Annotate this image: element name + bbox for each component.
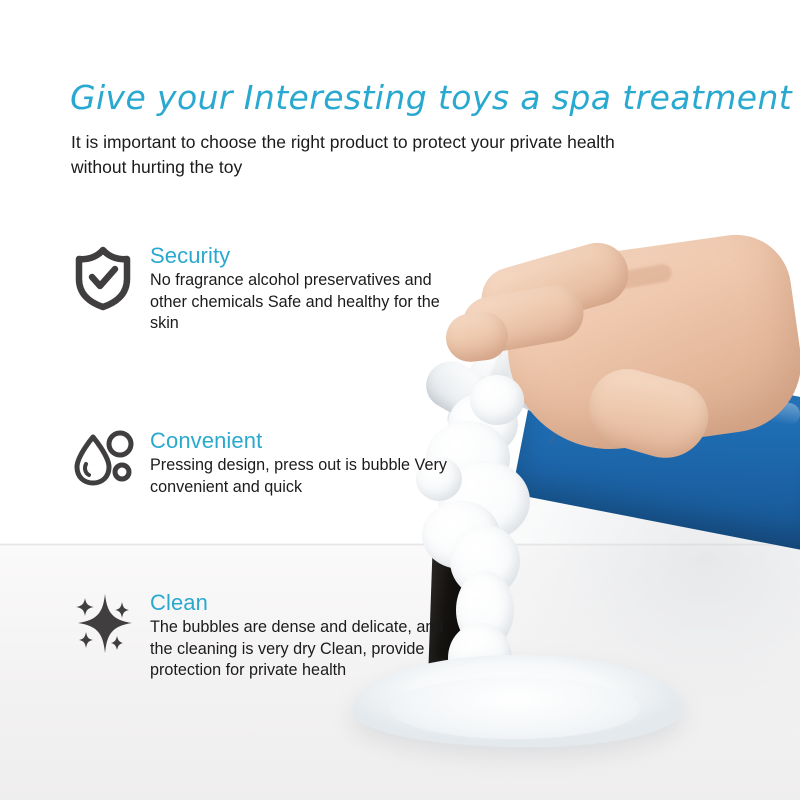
shield-check-icon	[72, 243, 150, 311]
feature-description: The bubbles are dense and delicate, and …	[150, 617, 450, 682]
feature-description: Pressing design, press out is bubble Ver…	[150, 455, 460, 498]
water-drop-bubbles-icon	[72, 428, 150, 488]
foam-blob	[470, 375, 524, 425]
feature-title: Convenient	[150, 428, 460, 454]
feature-title: Security	[150, 243, 460, 269]
feature-text-block: Security No fragrance alcohol preservati…	[150, 243, 460, 335]
feature-description: No fragrance alcohol preservatives and o…	[150, 270, 460, 335]
page-subtitle: It is important to choose the right prod…	[71, 130, 631, 180]
sparkle-star-icon	[72, 590, 150, 656]
feature-security: Security No fragrance alcohol preservati…	[72, 243, 460, 335]
foam-pool-highlight	[390, 677, 640, 739]
page-title: Give your Interesting toys a spa treatme…	[70, 78, 730, 117]
feature-text-block: Convenient Pressing design, press out is…	[150, 428, 460, 498]
feature-title: Clean	[150, 590, 450, 616]
product-feature-banner: Give your Interesting toys a spa treatme…	[0, 0, 800, 800]
feature-text-block: Clean The bubbles are dense and delicate…	[150, 590, 450, 682]
feature-clean: Clean The bubbles are dense and delicate…	[72, 590, 450, 682]
feature-convenient: Convenient Pressing design, press out is…	[72, 428, 460, 498]
